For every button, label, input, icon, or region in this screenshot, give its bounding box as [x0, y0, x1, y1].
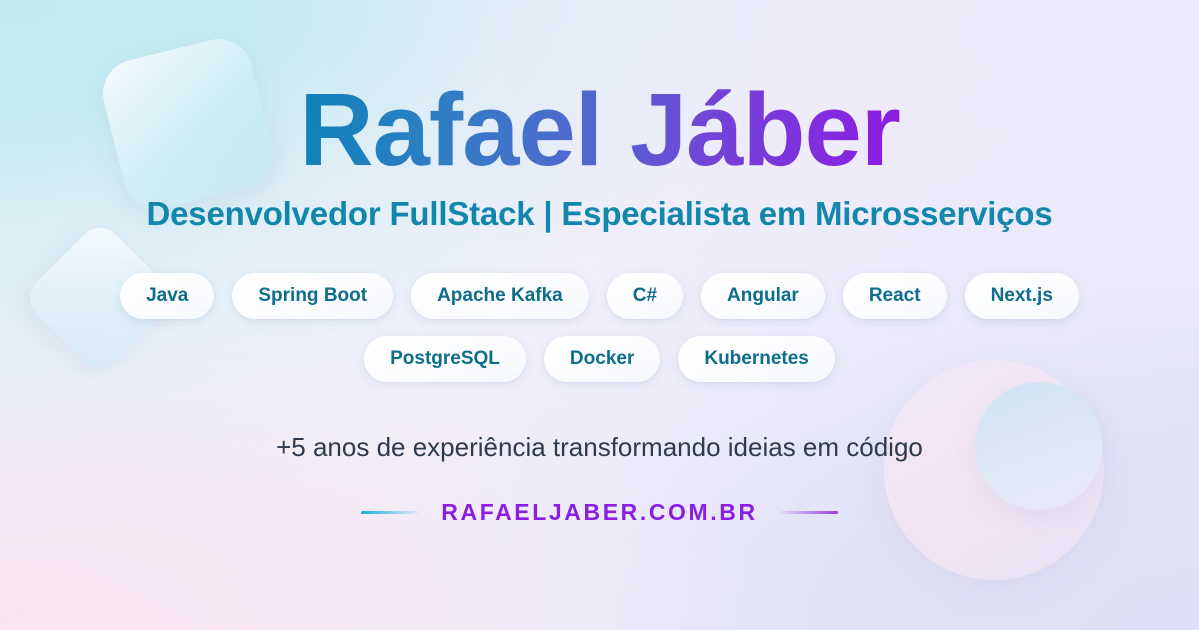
divider-line-right-icon [780, 511, 838, 514]
banner-canvas: Rafael Jáber Desenvolvedor FullStack | E… [0, 0, 1199, 630]
divider-line-left-icon [361, 511, 419, 514]
skill-pill: Docker [544, 336, 660, 382]
skill-pill-row-primary: Java Spring Boot Apache Kafka C# Angular… [120, 273, 1079, 319]
skill-pill: Apache Kafka [411, 273, 589, 319]
banner-content: Rafael Jáber Desenvolvedor FullStack | E… [0, 0, 1199, 630]
skill-pill: Next.js [965, 273, 1079, 319]
skill-pill: C# [607, 273, 683, 319]
skill-pill-row-secondary: PostgreSQL Docker Kubernetes [364, 336, 835, 382]
website-url-bar: RAFAELJABER.COM.BR [361, 499, 837, 526]
experience-tagline: +5 anos de experiência transformando ide… [276, 432, 923, 463]
skill-pill: Spring Boot [232, 273, 393, 319]
skill-pill: PostgreSQL [364, 336, 526, 382]
skill-pill: Java [120, 273, 214, 319]
skill-pill: React [843, 273, 947, 319]
page-subtitle: Desenvolvedor FullStack | Especialista e… [147, 195, 1053, 233]
website-url: RAFAELJABER.COM.BR [441, 499, 757, 526]
skill-pill: Kubernetes [678, 336, 835, 382]
page-title: Rafael Jáber [299, 78, 900, 181]
skill-pill: Angular [701, 273, 825, 319]
